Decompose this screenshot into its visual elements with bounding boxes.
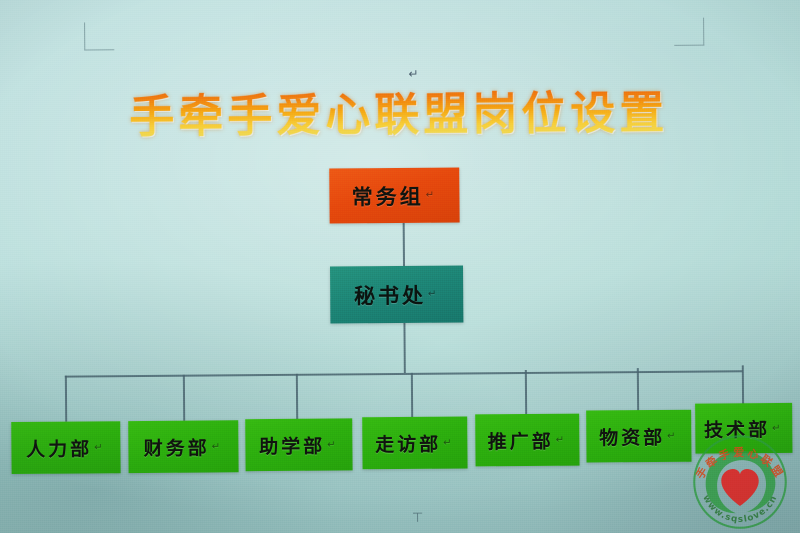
node-return-mark-icon: ↵ <box>327 439 338 450</box>
node-return-mark-icon: ↵ <box>428 289 439 300</box>
node-hr-department[interactable]: 人力部↵ <box>11 421 120 474</box>
crop-mark-top-right-icon <box>674 18 704 46</box>
node-label: 常务组 <box>352 180 424 211</box>
node-label: 助学部 <box>259 431 325 459</box>
node-label: 物资部 <box>599 422 665 450</box>
node-label: 秘书处 <box>354 279 426 310</box>
node-return-mark-icon: ↵ <box>556 434 567 445</box>
node-label: 走访部 <box>375 429 441 457</box>
node-return-mark-icon: ↵ <box>426 190 437 201</box>
connector-drop-education-aid <box>296 374 298 420</box>
node-promotion-department[interactable]: 推广部↵ <box>475 414 579 467</box>
node-materials-department[interactable]: 物资部↵ <box>586 410 691 463</box>
bottom-cursor-mark-icon: ⊤ <box>412 512 423 525</box>
crop-mark-top-left-icon <box>84 22 114 50</box>
projected-slide: ↵ 手牵手爱心联盟岗位设置 常务组↵ 秘书处↵ 人力部↵ 财务部↵ <box>0 0 800 533</box>
connector-drop-technology <box>742 365 744 407</box>
connector-drop-materials <box>637 368 639 413</box>
watermark-logo: 手牵手爱心联盟 www.sqslove.cn <box>688 430 792 533</box>
connector-drop-hr <box>65 376 67 422</box>
node-label: 人力部 <box>26 434 92 462</box>
node-return-mark-icon: ↵ <box>212 441 223 452</box>
connector-drop-promotion <box>525 370 527 416</box>
node-finance-department[interactable]: 财务部↵ <box>128 420 238 473</box>
node-education-aid-department[interactable]: 助学部↵ <box>245 418 352 471</box>
node-label: 推广部 <box>488 426 554 454</box>
node-secretariat[interactable]: 秘书处↵ <box>330 266 463 324</box>
node-return-mark-icon: ↵ <box>94 442 105 453</box>
node-return-mark-icon: ↵ <box>443 437 454 448</box>
node-executive-group[interactable]: 常务组↵ <box>329 168 459 224</box>
node-label: 财务部 <box>144 433 210 461</box>
page-title: 手牵手爱心联盟岗位设置 <box>0 75 799 146</box>
connector-drop-finance <box>183 375 185 421</box>
connector-drop-visiting <box>411 373 413 419</box>
slide-photo: ↵ 手牵手爱心联盟岗位设置 常务组↵ 秘书处↵ 人力部↵ 财务部↵ <box>0 0 800 533</box>
node-return-mark-icon: ↵ <box>667 430 678 441</box>
connector-sec-to-bus <box>403 323 405 373</box>
logo-heart-icon <box>721 469 758 506</box>
node-visiting-department[interactable]: 走访部↵ <box>362 416 467 469</box>
connector-exec-to-sec <box>403 223 405 266</box>
